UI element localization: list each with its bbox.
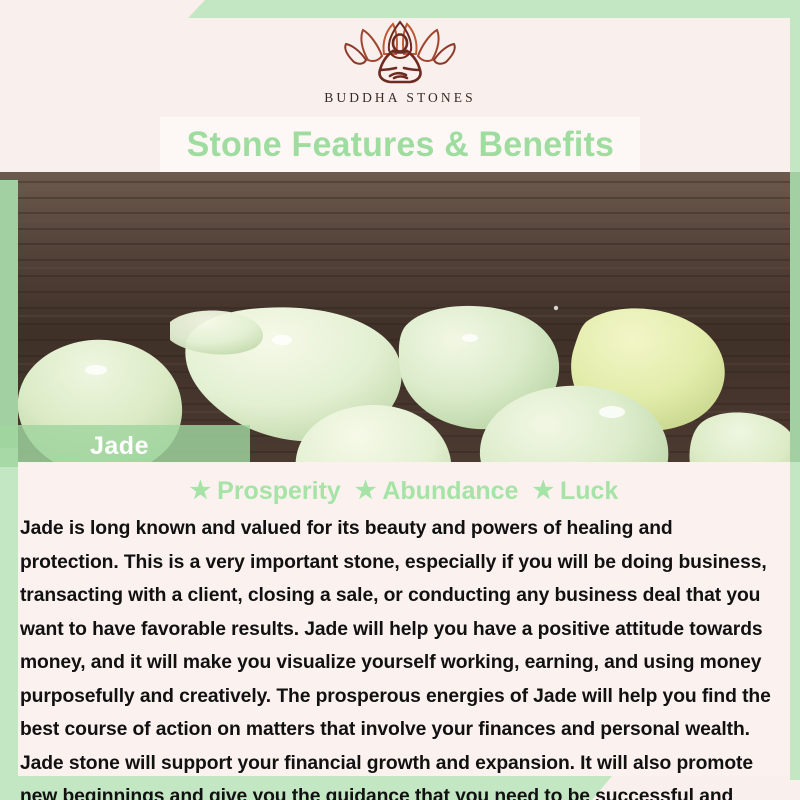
keyword-luck: ★ Luck bbox=[532, 477, 618, 506]
keyword-prosperity: ★ Prosperity bbox=[190, 477, 341, 506]
star-icon: ★ bbox=[532, 479, 554, 503]
star-icon: ★ bbox=[190, 479, 212, 503]
brand-logo-block: BUDDHA STONES bbox=[0, 0, 800, 118]
keyword-label: Prosperity bbox=[217, 477, 341, 506]
green-right-accent-strip-overlay bbox=[790, 172, 800, 462]
stone-name-tag: Jade bbox=[0, 425, 250, 467]
keyword-label: Luck bbox=[560, 477, 618, 506]
stone-description: Jade is long known and valued for its be… bbox=[18, 512, 778, 800]
green-left-accent-strip-overlay bbox=[0, 180, 18, 448]
stone-name: Jade bbox=[90, 432, 149, 461]
star-icon: ★ bbox=[355, 479, 377, 503]
stone-keywords: ★ Prosperity ★ Abundance ★ Luck bbox=[18, 472, 790, 510]
page-title: Stone Features & Benefits bbox=[186, 125, 613, 165]
stone-content-panel: ★ Prosperity ★ Abundance ★ Luck Jade is … bbox=[18, 462, 790, 776]
page-title-banner: Stone Features & Benefits bbox=[160, 117, 640, 172]
brand-wordmark: BUDDHA STONES bbox=[324, 90, 475, 106]
keyword-abundance: ★ Abundance bbox=[355, 477, 519, 506]
stone-info-card: BUDDHA STONES Stone Features & Benefits bbox=[0, 0, 800, 800]
keyword-label: Abundance bbox=[382, 477, 518, 506]
lotus-meditation-icon bbox=[334, 20, 466, 86]
stone-photo bbox=[0, 172, 800, 462]
